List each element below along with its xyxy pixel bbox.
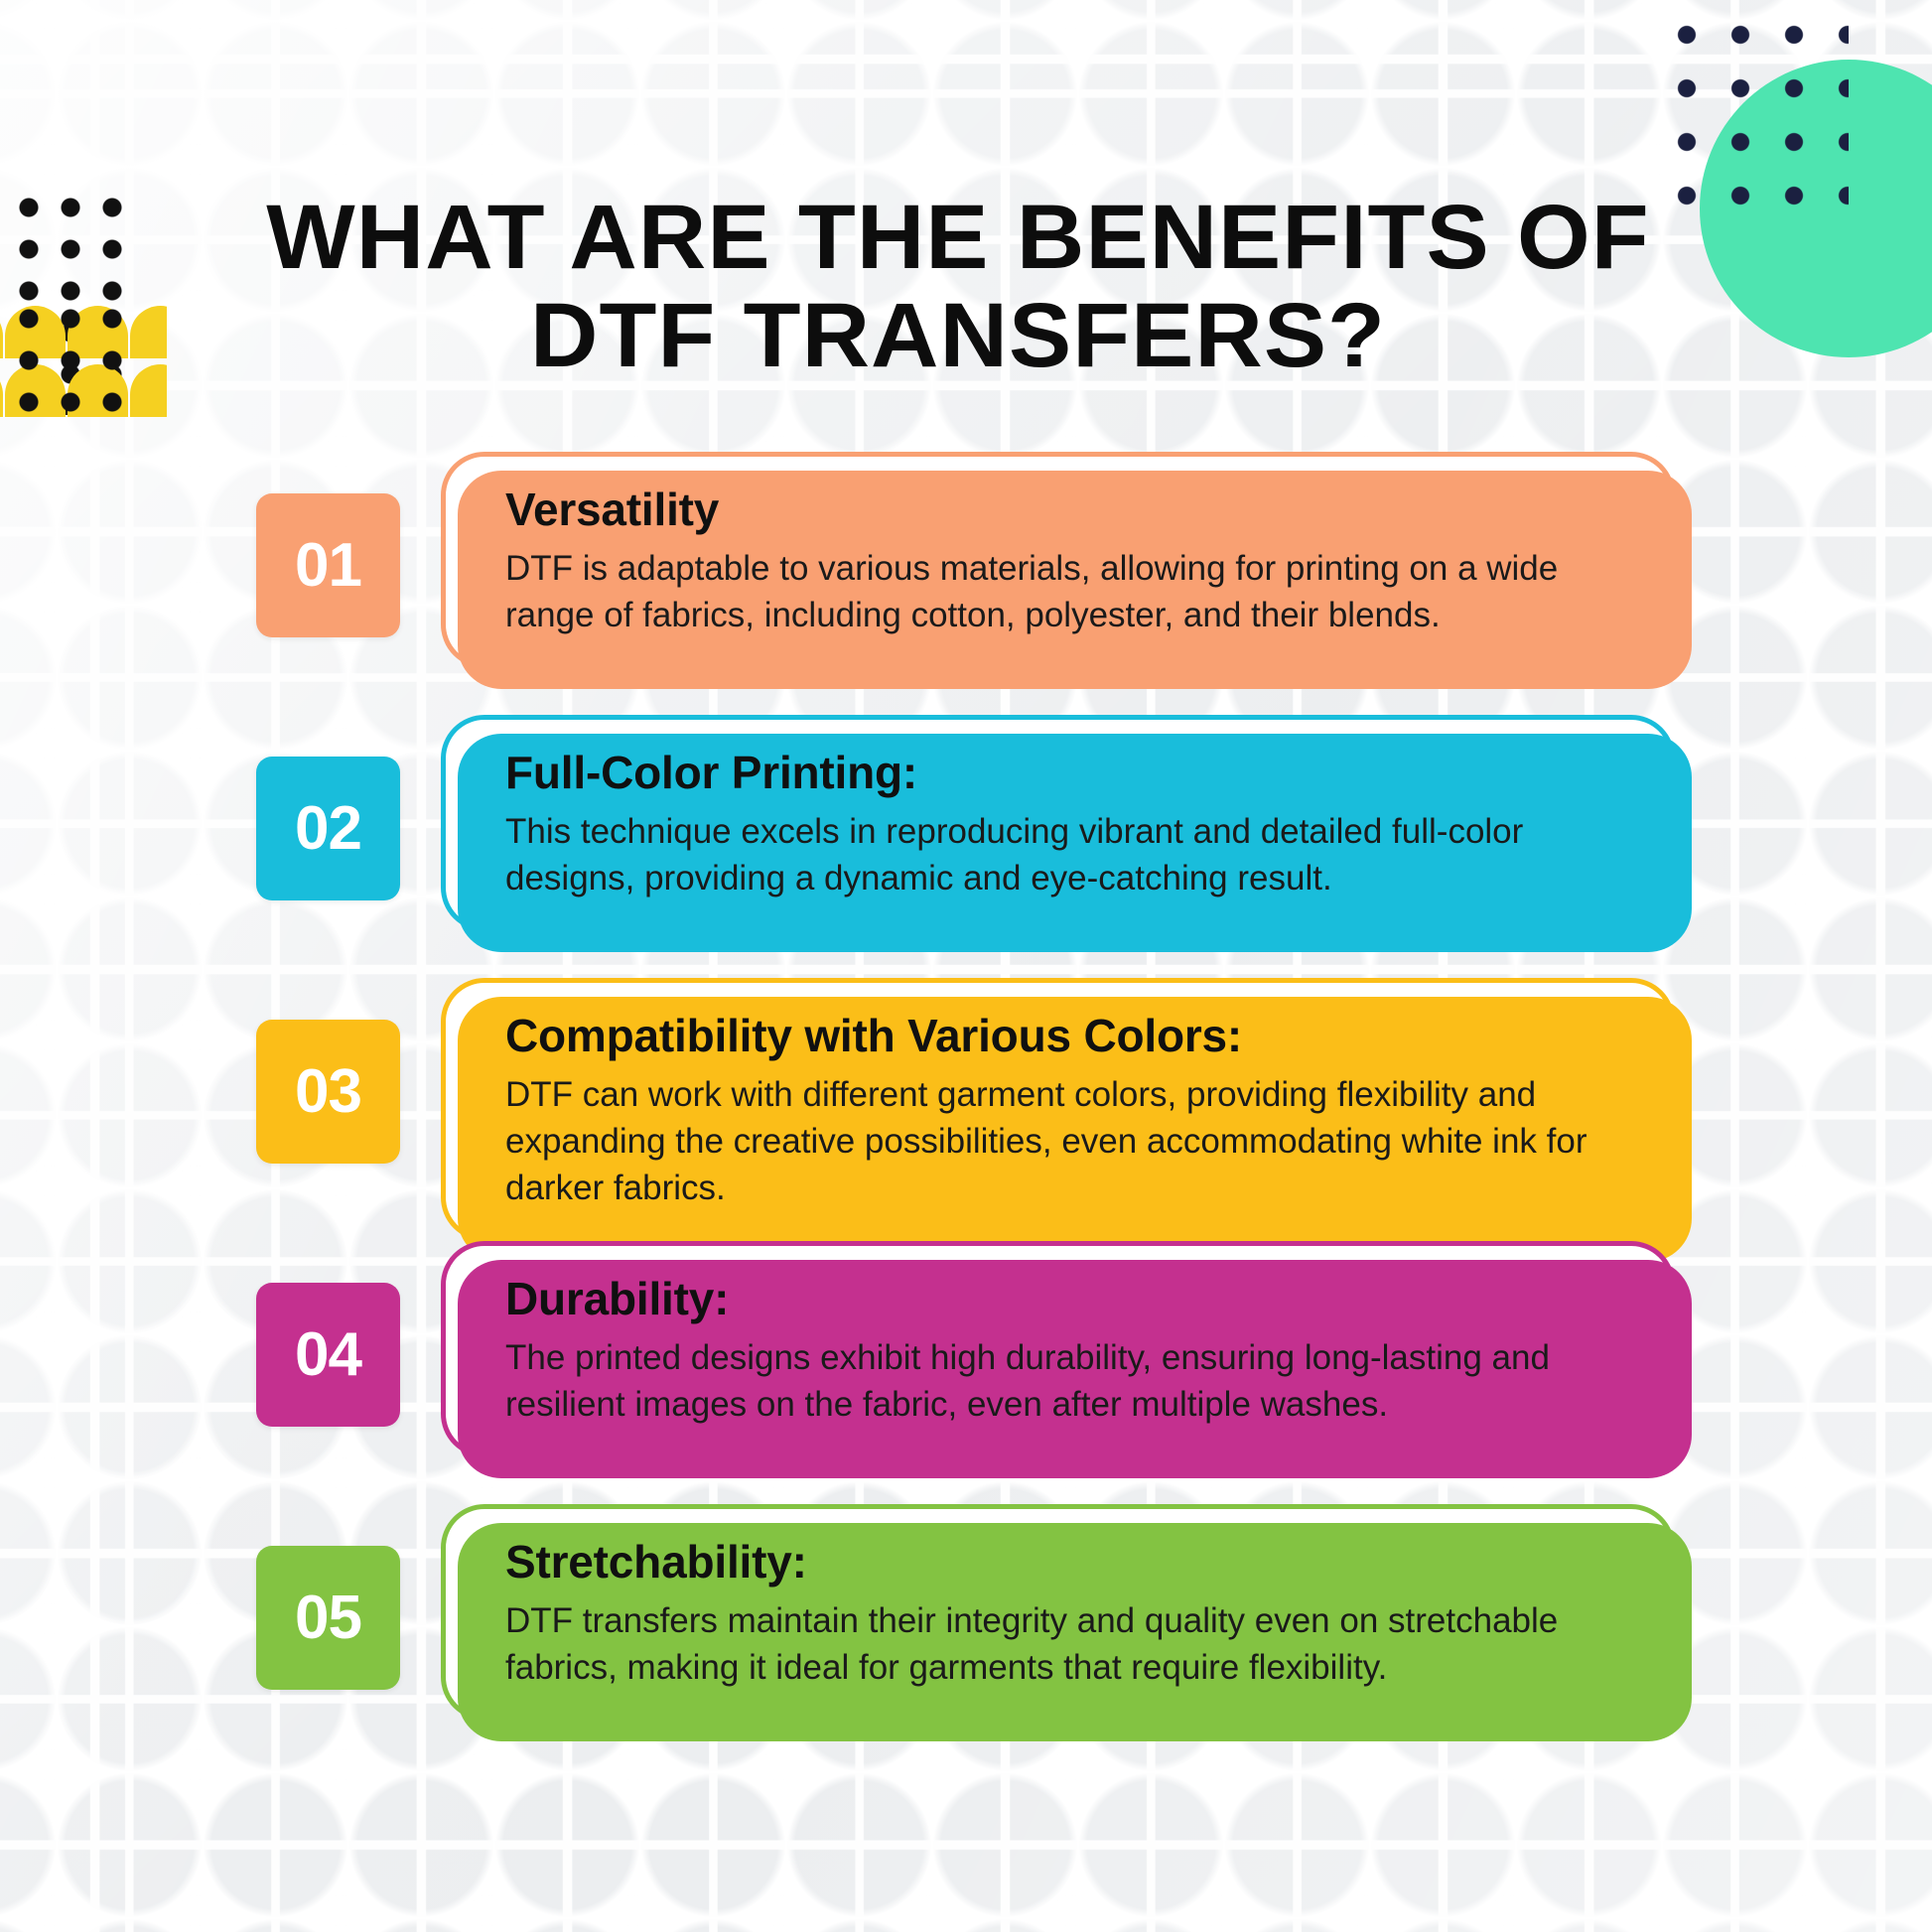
- item-title: Compatibility with Various Colors:: [505, 1009, 1616, 1062]
- list-item: 04 Durability: The printed designs exhib…: [0, 1241, 1932, 1452]
- item-title: Durability:: [505, 1272, 1616, 1325]
- list-item: 02 Full-Color Printing: This technique e…: [0, 715, 1932, 926]
- item-title: Full-Color Printing:: [505, 746, 1616, 799]
- item-number-badge: 04: [256, 1283, 400, 1427]
- item-card: Versatility DTF is adaptable to various …: [441, 452, 1675, 668]
- item-number-badge: 05: [256, 1546, 400, 1690]
- item-card: Full-Color Printing: This technique exce…: [441, 715, 1675, 931]
- item-title: Stretchability:: [505, 1535, 1616, 1588]
- benefits-list: 01 Versatility DTF is adaptable to vario…: [0, 452, 1932, 1767]
- page-title: WHAT ARE THE BENEFITS OF DTF TRANSFERS?: [227, 189, 1690, 386]
- item-number-badge: 02: [256, 757, 400, 900]
- list-item: 05 Stretchability: DTF transfers maintai…: [0, 1504, 1932, 1716]
- item-description: DTF transfers maintain their integrity a…: [505, 1598, 1597, 1692]
- item-number-badge: 01: [256, 493, 400, 637]
- item-card: Durability: The printed designs exhibit …: [441, 1241, 1675, 1457]
- item-title: Versatility: [505, 483, 1616, 536]
- item-description: The printed designs exhibit high durabil…: [505, 1335, 1597, 1429]
- item-description: This technique excels in reproducing vib…: [505, 809, 1597, 902]
- item-description: DTF can work with different garment colo…: [505, 1072, 1597, 1212]
- item-card: Stretchability: DTF transfers maintain t…: [441, 1504, 1675, 1721]
- item-card: Compatibility with Various Colors: DTF c…: [441, 978, 1675, 1241]
- item-number-badge: 03: [256, 1020, 400, 1164]
- list-item: 01 Versatility DTF is adaptable to vario…: [0, 452, 1932, 663]
- item-description: DTF is adaptable to various materials, a…: [505, 546, 1597, 639]
- list-item: 03 Compatibility with Various Colors: DT…: [0, 978, 1932, 1189]
- infographic-content: WHAT ARE THE BENEFITS OF DTF TRANSFERS? …: [0, 0, 1932, 1932]
